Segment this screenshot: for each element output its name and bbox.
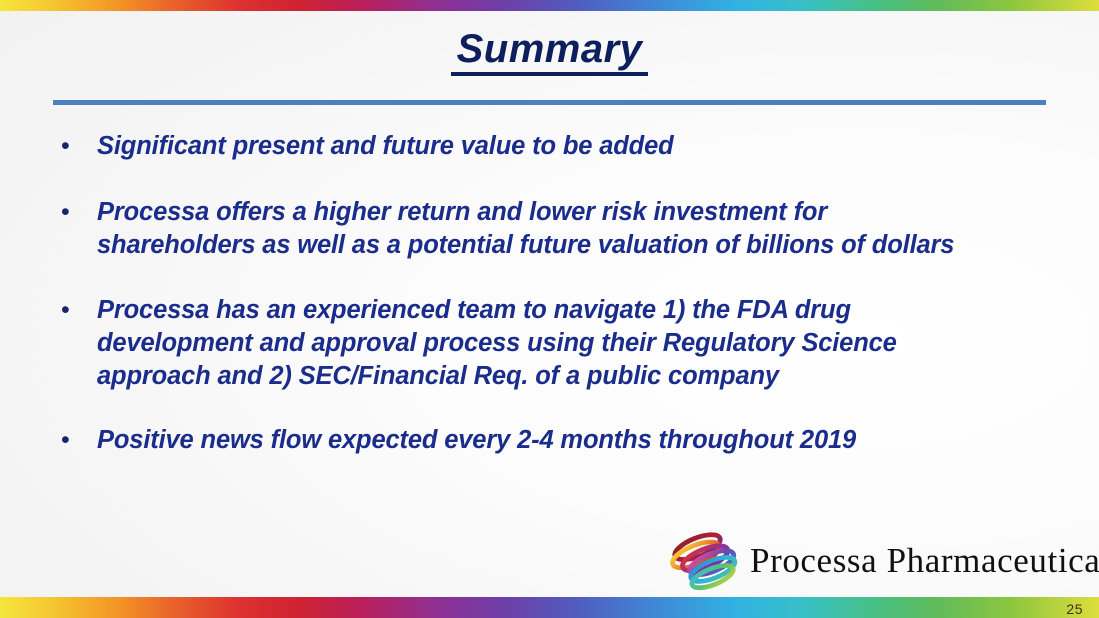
- page-title: Summary: [0, 27, 1099, 76]
- bullet-dot-icon: •: [58, 424, 97, 457]
- list-item-line: Processa offers a higher return and lowe…: [97, 196, 1058, 229]
- slide-canvas: Summary • Significant present and future…: [0, 0, 1099, 618]
- list-item: • Positive news flow expected every 2-4 …: [58, 424, 1058, 457]
- page-title-text: Summary: [451, 28, 649, 76]
- list-item-text: Positive news flow expected every 2-4 mo…: [97, 424, 1058, 457]
- list-item-text: Processa offers a higher return and lowe…: [97, 196, 1058, 262]
- company-logo: Processa Pharmaceuticals: [662, 527, 1099, 593]
- list-item-text: Processa has an experienced team to navi…: [97, 294, 1058, 393]
- list-item: • Significant present and future value t…: [58, 130, 1058, 163]
- company-name-text: Processa Pharmaceuticals: [750, 543, 1099, 578]
- list-item-line: Positive news flow expected every 2-4 mo…: [97, 424, 1058, 457]
- list-item-line: approach and 2) SEC/Financial Req. of a …: [97, 360, 1058, 393]
- bullet-dot-icon: •: [58, 294, 97, 327]
- bullet-dot-icon: •: [58, 196, 97, 229]
- rainbow-swirl-rings-logo-icon: [662, 527, 744, 593]
- title-divider-rule: [53, 100, 1046, 105]
- bullet-dot-icon: •: [58, 130, 97, 163]
- page-number: 25: [1066, 601, 1083, 617]
- rainbow-gradient-bar-top: [0, 0, 1099, 11]
- list-item-text: Significant present and future value to …: [97, 130, 1058, 163]
- list-item: • Processa offers a higher return and lo…: [58, 196, 1058, 262]
- bullet-list: • Significant present and future value t…: [58, 130, 1058, 457]
- list-item: • Processa has an experienced team to na…: [58, 294, 1058, 393]
- list-item-line: shareholders as well as a potential futu…: [97, 229, 1058, 262]
- list-item-line: development and approval process using t…: [97, 327, 1058, 360]
- list-item-line: Processa has an experienced team to navi…: [97, 294, 1058, 327]
- rainbow-gradient-bar-bottom: [0, 597, 1099, 618]
- list-item-line: Significant present and future value to …: [97, 130, 1058, 163]
